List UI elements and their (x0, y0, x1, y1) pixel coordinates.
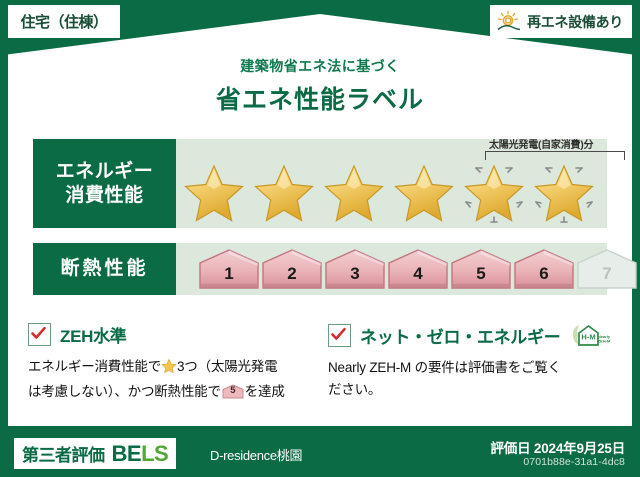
star-filled (392, 163, 460, 225)
energy-label-root: 建築物省エネ法に基づく 省エネ性能ラベル エネルギー 消費性能 太陽光発電(自家… (0, 0, 640, 477)
bels-mark: BELS (112, 441, 169, 467)
bels-mark-part2: LS (141, 441, 168, 466)
inline-grade-number: 5 (222, 383, 244, 398)
zeh-standard-heading: ZEH水準 (28, 322, 318, 347)
grade-number: 1 (224, 264, 233, 290)
grade-number: 5 (476, 264, 485, 290)
solar-bracket (485, 151, 625, 160)
grade-number: 4 (413, 264, 422, 290)
energy-performance-row: エネルギー 消費性能 太陽光発電(自家消費)分 (33, 139, 607, 228)
net-zero-energy-body: Nearly ZEH-M の要件は評価書をご覧く ださい。 (328, 357, 618, 401)
star-filled (252, 163, 320, 225)
star-outline (532, 163, 600, 225)
grade-number: 3 (350, 264, 359, 290)
insulation-performance-label: 断熱性能 (33, 243, 176, 295)
grade-badge-active: 4 (387, 248, 449, 290)
grade-number: 6 (539, 264, 548, 290)
hm-logo-sub2: ZEH-M (598, 339, 611, 344)
solar-bracket-label: 太陽光発電(自家消費)分 (489, 136, 593, 151)
zeh-body-part1: エネルギー消費性能で (28, 359, 161, 374)
energy-label-line1: エネルギー (56, 160, 154, 183)
evaluation-id: 0701b88e-31a1-4dc8 (523, 456, 625, 468)
energy-performance-label: エネルギー 消費性能 (33, 139, 176, 228)
star-rating (176, 163, 607, 225)
title-main: 省エネ性能ラベル (0, 80, 640, 116)
page-title: 建築物省エネ法に基づく 省エネ性能ラベル (0, 56, 640, 116)
grade-badges: 1234567 (176, 243, 629, 295)
star-filled (322, 163, 390, 225)
grade-badge-active: 6 (513, 248, 575, 290)
sun-icon (496, 10, 522, 34)
hm-logo-text: H-M (582, 333, 596, 342)
zeh-body-part2: は考慮しない）、かつ断熱性能で (28, 384, 221, 399)
net-zero-energy-heading: ネット・ゼロ・エネルギー H-M Nearly ZEH-M (328, 322, 618, 348)
renewable-badge-label: 再エネ設備あり (527, 12, 623, 32)
inline-grade-badge: 5 (222, 384, 244, 399)
grade-badge-active: 1 (198, 248, 260, 290)
zeh-standard-body: エネルギー消費性能で3つ（太陽光発電は考慮しない）、かつ断熱性能で5を達成 (28, 356, 318, 403)
insulation-performance-row: 断熱性能 1234567 (33, 243, 607, 295)
insulation-performance-value: 1234567 (176, 243, 607, 295)
net-zero-energy-checkbox[interactable] (328, 324, 351, 347)
grade-badge-active: 2 (261, 248, 323, 290)
evaluation-date: 評価日 2024年9月25日 (490, 437, 625, 457)
energy-label-line2: 消費性能 (65, 184, 143, 207)
net-zero-energy-section: ネット・ゼロ・エネルギー H-M Nearly ZEH-M Nearly ZEH… (328, 322, 618, 401)
check-icon (30, 325, 47, 342)
renewable-equipment-badge: 再エネ設備あり (490, 5, 632, 38)
zeh-standard-section: ZEH水準 エネルギー消費性能で3つ（太陽光発電は考慮しない）、かつ断熱性能で5… (28, 322, 318, 403)
bels-label: 第三者評価 (22, 441, 105, 466)
bels-mark-part1: BE (112, 441, 142, 466)
star-filled (182, 163, 250, 225)
grade-badge-inactive: 7 (576, 248, 638, 290)
footer: 第三者評価 BELS D-residence桃園 評価日 2024年9月25日 … (0, 431, 640, 477)
category-tag: 住宅（住棟） (8, 5, 120, 38)
star-outline (462, 163, 530, 225)
category-tag-label: 住宅（住棟） (20, 11, 107, 32)
title-subtitle: 建築物省エネ法に基づく (0, 56, 640, 76)
grade-number: 7 (602, 264, 611, 290)
building-name: D-residence桃園 (210, 445, 302, 464)
zeh-standard-checkbox[interactable] (28, 323, 51, 346)
inline-star-icon (161, 358, 177, 381)
bels-badge: 第三者評価 BELS (14, 438, 176, 469)
energy-performance-value: 太陽光発電(自家消費)分 (176, 139, 607, 228)
check-icon (330, 326, 347, 343)
zeh-body-stars: 3つ（太陽光発電 (177, 359, 277, 374)
net-zero-energy-title: ネット・ゼロ・エネルギー (360, 323, 560, 348)
zeh-standard-title: ZEH水準 (60, 322, 127, 347)
nearly-zeh-m-logo-icon: H-M Nearly ZEH-M (571, 322, 611, 348)
grade-number: 2 (287, 264, 296, 290)
grade-badge-active: 5 (450, 248, 512, 290)
zeh-body-part3: を達成 (245, 384, 285, 399)
grade-badge-active: 3 (324, 248, 386, 290)
